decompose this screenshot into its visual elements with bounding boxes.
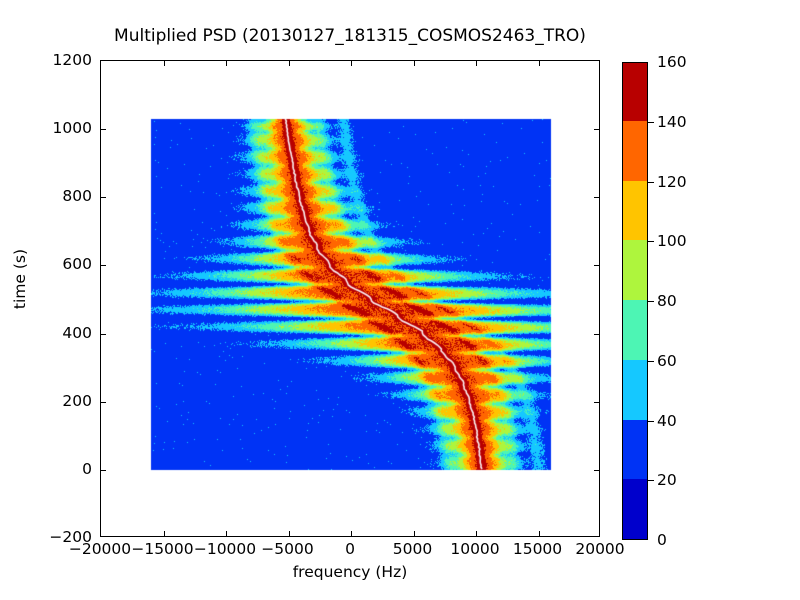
colorbar-tick	[648, 361, 654, 362]
x-tick-top	[164, 61, 165, 66]
x-tick	[351, 531, 352, 536]
x-tick-label: −10000	[194, 540, 256, 558]
colorbar-tick	[648, 421, 654, 422]
colorbar-band	[623, 479, 647, 539]
colorbar-tick	[648, 480, 654, 481]
x-tick	[226, 531, 227, 536]
x-tick-top	[289, 61, 290, 66]
spectrogram-heatmap	[101, 61, 600, 537]
x-tick	[539, 531, 540, 536]
y-tick	[101, 265, 106, 266]
x-tick	[476, 531, 477, 536]
x-tick-label: −15000	[131, 540, 193, 558]
x-tick	[414, 531, 415, 536]
y-tick-right	[594, 265, 599, 266]
y-tick	[101, 402, 106, 403]
y-tick-right	[594, 129, 599, 130]
y-tick-label: 200	[0, 392, 92, 410]
colorbar-tick-label: 40	[657, 412, 677, 430]
colorbar-tick-label: 0	[657, 531, 667, 549]
x-tick	[289, 531, 290, 536]
figure-canvas: Multiplied PSD (20130127_181315_COSMOS24…	[0, 0, 800, 600]
x-tick-label: 20000	[575, 540, 624, 558]
x-tick-top	[539, 61, 540, 66]
y-tick-label: −200	[0, 528, 92, 546]
y-tick	[101, 197, 106, 198]
y-tick-label: 1000	[0, 119, 92, 137]
colorbar-band	[623, 299, 647, 359]
colorbar-tick-label: 60	[657, 352, 677, 370]
colorbar-tick-label: 100	[657, 232, 687, 250]
x-tick-top	[351, 61, 352, 66]
y-tick	[101, 334, 106, 335]
colorbar-tick	[648, 301, 654, 302]
colorbar-tick-label: 120	[657, 173, 687, 191]
y-tick	[101, 129, 106, 130]
colorbar-band	[623, 419, 647, 479]
colorbar-band	[623, 359, 647, 419]
x-tick	[164, 531, 165, 536]
y-tick-right	[594, 334, 599, 335]
x-tick-top	[414, 61, 415, 66]
y-tick-label: 0	[0, 460, 92, 478]
y-axis-label: time (s)	[11, 199, 29, 359]
page-title: Multiplied PSD (20130127_181315_COSMOS24…	[0, 26, 700, 46]
x-tick-top	[226, 61, 227, 66]
x-tick-label: −5000	[261, 540, 313, 558]
colorbar-tick	[648, 182, 654, 183]
colorbar-band	[623, 180, 647, 240]
heatmap-axes[interactable]	[100, 60, 600, 537]
x-tick-label: 0	[345, 540, 355, 558]
colorbar-tick-label: 80	[657, 292, 677, 310]
y-tick	[101, 470, 106, 471]
x-tick-label: 10000	[450, 540, 499, 558]
colorbar-band	[623, 240, 647, 300]
colorbar[interactable]	[622, 62, 648, 540]
colorbar-band	[623, 62, 647, 121]
x-tick-label: 15000	[513, 540, 562, 558]
colorbar-band	[623, 120, 647, 180]
x-tick-top	[476, 61, 477, 66]
y-tick-right	[594, 402, 599, 403]
x-axis-label: frequency (Hz)	[100, 563, 600, 581]
colorbar-tick	[648, 241, 654, 242]
colorbar-tick-label: 160	[657, 53, 687, 71]
y-tick-label: 1200	[0, 51, 92, 69]
y-tick-right	[594, 470, 599, 471]
colorbar-tick-label: 140	[657, 113, 687, 131]
x-tick-label: 5000	[393, 540, 432, 558]
colorbar-tick-label: 20	[657, 471, 677, 489]
colorbar-tick	[648, 122, 654, 123]
y-tick-right	[594, 197, 599, 198]
